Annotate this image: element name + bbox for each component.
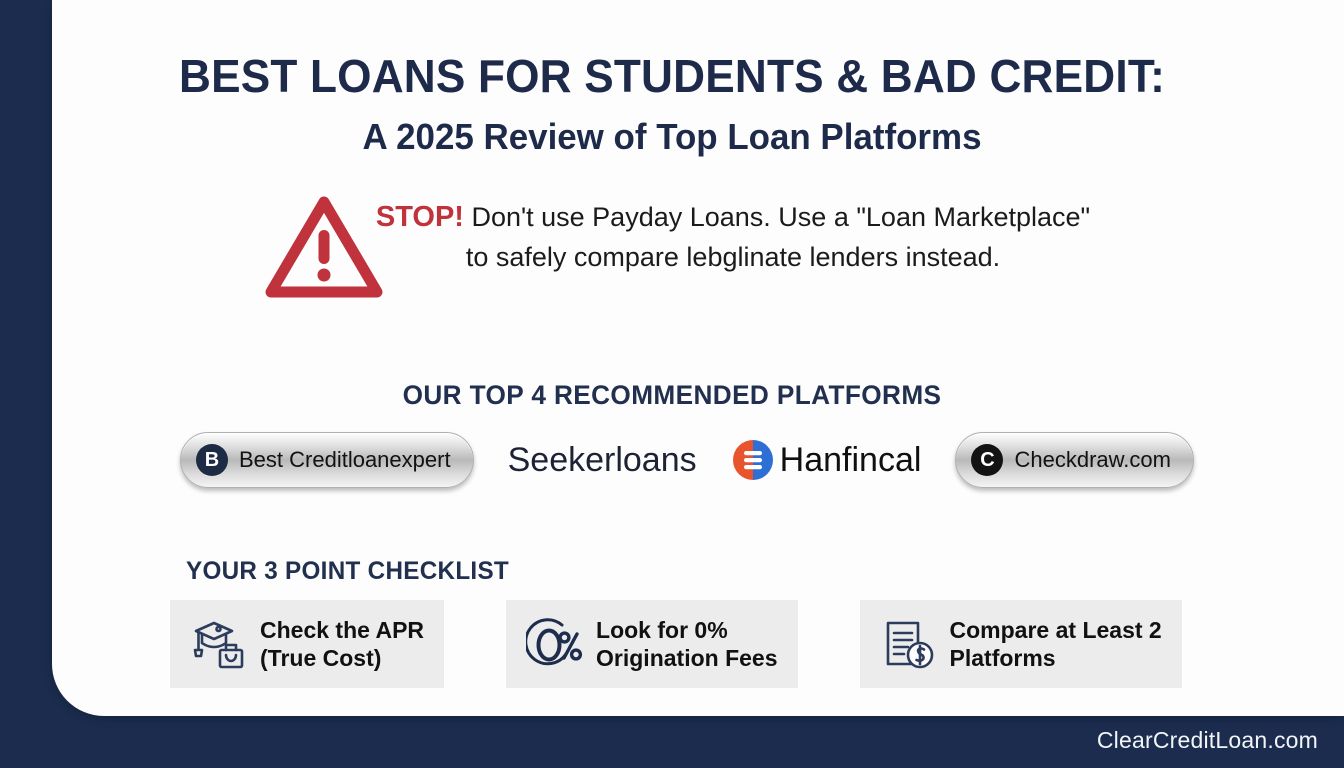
pill-badge: C Checkdraw.com (955, 432, 1194, 488)
checklist-item-apr: Check the APR (True Cost) (170, 600, 444, 688)
platform-logo-best-creditloanexpert[interactable]: B Best Creditloanexpert (180, 432, 474, 488)
platform-logo-checkdraw[interactable]: C Checkdraw.com (955, 432, 1194, 488)
checklist-heading: YOUR 3 POINT CHECKLIST (186, 557, 509, 586)
warning-text: STOP! Don't use Payday Loans. Use a "Loa… (376, 190, 1090, 277)
stop-label: STOP! (376, 201, 464, 233)
page-title: BEST LOANS FOR STUDENTS & BAD CREDIT: (27, 52, 1317, 102)
warning-line-1-text: Don't use Payday Loans. Use a "Loan Mark… (464, 202, 1090, 232)
checklist-item-compare-platforms: Compare at Least 2 Platforms (860, 600, 1182, 688)
checklist-item-label: Compare at Least 2 Platforms (950, 616, 1162, 672)
warning-triangle-icon (264, 194, 384, 298)
zero-percent-icon (526, 616, 582, 672)
platform-name: Hanfincal (780, 441, 922, 480)
platform-name: Seekerloans (508, 441, 697, 480)
checklist-row: Check the APR (True Cost) Look for 0% Or… (170, 600, 1182, 688)
title-block: BEST LOANS FOR STUDENTS & BAD CREDIT: A … (0, 52, 1344, 158)
platform-name: Checkdraw.com (1014, 447, 1171, 473)
checklist-item-label: Look for 0% Origination Fees (596, 616, 777, 672)
warning-line-1: STOP! Don't use Payday Loans. Use a "Loa… (376, 196, 1090, 238)
warning-banner: STOP! Don't use Payday Loans. Use a "Loa… (0, 190, 1344, 298)
pill-badge: B Best Creditloanexpert (180, 432, 474, 488)
checklist-item-origination-fees: Look for 0% Origination Fees (506, 600, 797, 688)
page-subtitle: A 2025 Review of Top Loan Platforms (20, 116, 1324, 158)
letter-c-icon: C (971, 444, 1003, 476)
platform-name: Best Creditloanexpert (239, 447, 451, 473)
graduation-cap-briefcase-icon (190, 616, 246, 672)
platforms-heading: OUR TOP 4 RECOMMENDED PLATFORMS (20, 380, 1324, 411)
checklist-item-label: Check the APR (True Cost) (260, 616, 424, 672)
warning-line-2: to safely compare lebglinate lenders ins… (376, 238, 1090, 277)
hanfincal-split-circle-icon (731, 438, 775, 482)
platform-logo-row: B Best Creditloanexpert Seekerloans Hanf… (180, 432, 1194, 488)
platform-logo-seekerloans[interactable]: Seekerloans (508, 441, 697, 480)
document-dollar-icon (880, 616, 936, 672)
letter-b-icon: B (196, 444, 228, 476)
footer-brand: ClearCreditLoan.com (1097, 727, 1318, 754)
platform-logo-hanfincal[interactable]: Hanfincal (731, 438, 922, 482)
